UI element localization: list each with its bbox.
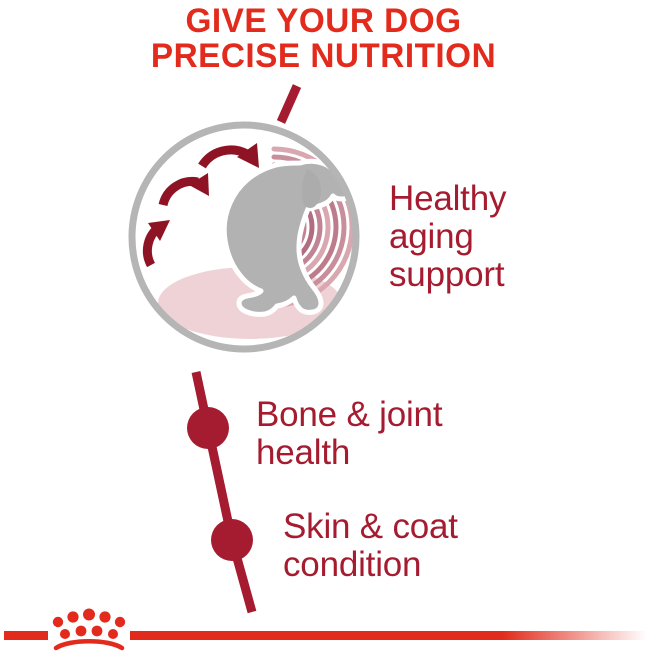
footer-bar-right xyxy=(130,631,647,640)
benefit-aging-line-3: support xyxy=(389,256,506,294)
page-title: GIVE YOUR DOG PRECISE NUTRITION xyxy=(6,4,640,73)
headline-line-2: PRECISE NUTRITION xyxy=(6,39,640,74)
connector-dot-skin-coat xyxy=(211,519,253,561)
benefit-skin-line-2: condition xyxy=(283,546,458,584)
benefit-aging-line-2: aging xyxy=(389,218,506,256)
footer-bar-left xyxy=(4,631,48,640)
connector-path xyxy=(196,372,252,612)
benefit-bone-line-2: health xyxy=(256,434,442,472)
connector-dot-bone-joint xyxy=(187,407,229,449)
benefit-label-bone-and-joint-health: Bone & joint health xyxy=(256,396,442,472)
rotation-arrow-middle xyxy=(163,173,209,205)
headline-line-1: GIVE YOUR DOG xyxy=(6,4,640,39)
benefit-label-skin-and-coat-condition: Skin & coat condition xyxy=(283,508,458,584)
benefit-skin-line-1: Skin & coat xyxy=(283,508,458,546)
benefit-bone-line-1: Bone & joint xyxy=(256,396,442,434)
footer-brand-bar xyxy=(0,590,647,654)
healthy-aging-badge xyxy=(124,117,364,357)
benefit-aging-line-1: Healthy xyxy=(389,180,506,218)
rotation-arrow-top xyxy=(202,143,259,168)
royal-canin-crown-icon xyxy=(53,609,125,649)
benefit-label-healthy-aging-support: Healthy aging support xyxy=(389,180,506,293)
rotation-arrow-bottom xyxy=(147,220,170,265)
poster-canvas: GIVE YOUR DOG PRECISE NUTRITION xyxy=(0,0,647,654)
